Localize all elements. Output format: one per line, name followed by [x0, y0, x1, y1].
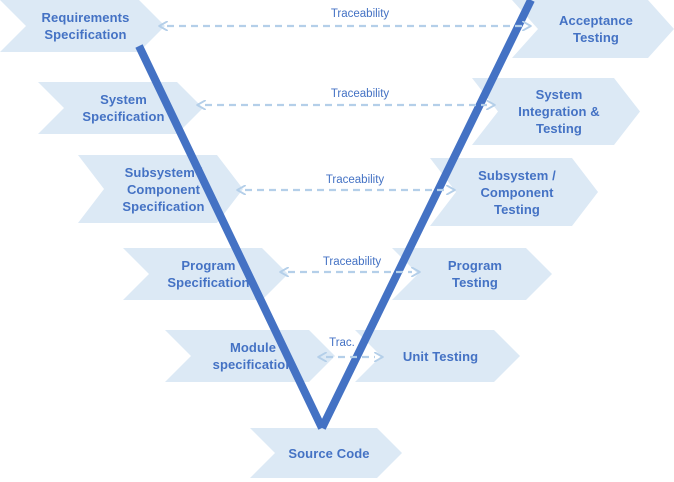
chevron-system-integration-testing[interactable] [472, 78, 640, 145]
chevron-module-specification[interactable] [165, 330, 335, 382]
chevron-program-testing[interactable] [392, 248, 552, 300]
chevron-subsystem-component-testing[interactable] [430, 158, 598, 226]
chevron-unit-testing[interactable] [355, 330, 520, 382]
chevron-program-specification[interactable] [123, 248, 288, 300]
chevron-acceptance-testing[interactable] [512, 0, 674, 58]
chevron-source-code[interactable] [250, 428, 402, 478]
diagram-canvas [0, 0, 674, 482]
chevron-requirements-specification[interactable] [0, 0, 165, 52]
v-model-diagram: Requirements SpecificationSystem Specifi… [0, 0, 674, 482]
